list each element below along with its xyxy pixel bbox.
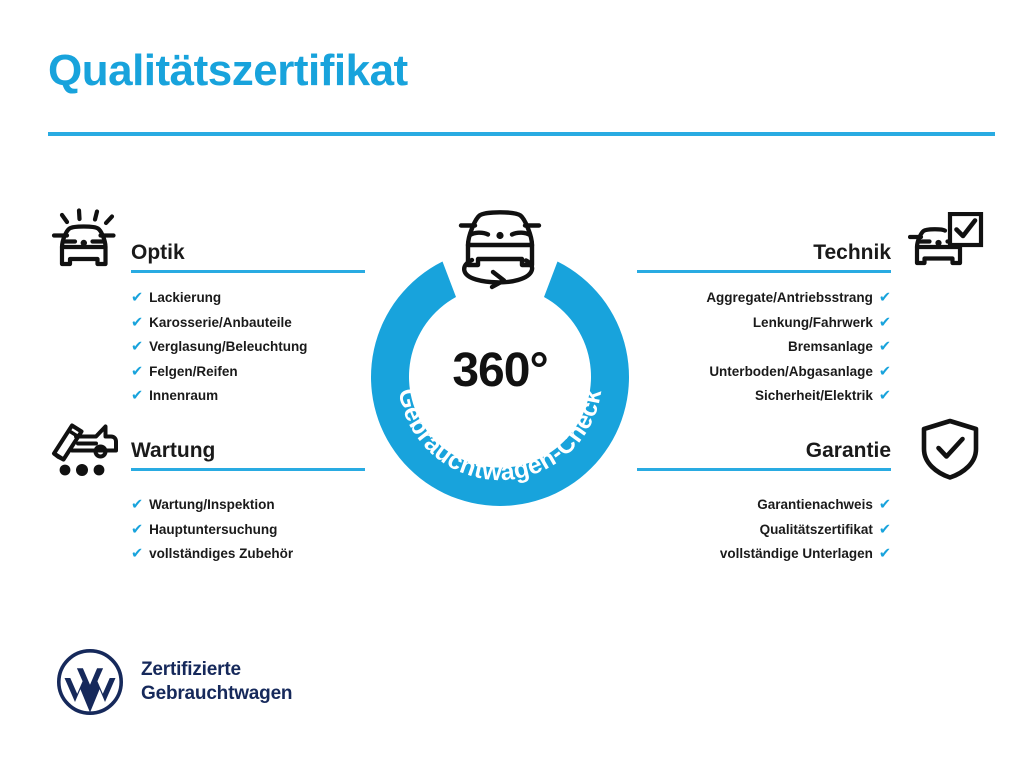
section-garantie-list: Garantienachweis ✔ Qualitätszertifikat ✔… (637, 493, 891, 567)
list-item-label: Lenkung/Fahrwerk (753, 311, 873, 335)
section-garantie: Garantie Garantienachweis ✔ Qualitätszer… (637, 437, 891, 567)
badge-360-check: Gebrauchtwagen-Check 360° (371, 249, 629, 507)
certificate-page: Qualitätszertifikat Optik ✔ (0, 0, 1024, 768)
list-item: ✔ Lackierung (131, 286, 365, 311)
check-icon: ✔ (131, 336, 143, 360)
section-wartung: Wartung ✔ Wartung/Inspektion ✔ Hauptunte… (131, 437, 365, 567)
section-technik-divider (637, 270, 891, 273)
car-rotate-icon (444, 202, 556, 292)
list-item: ✔ Karosserie/Anbauteile (131, 311, 365, 336)
section-optik-divider (131, 270, 365, 273)
car-checkbox-icon (908, 212, 984, 274)
check-icon: ✔ (131, 312, 143, 336)
shield-check-icon (920, 418, 980, 480)
check-icon: ✔ (879, 385, 891, 409)
page-title: Qualitätszertifikat (48, 48, 408, 94)
check-icon: ✔ (131, 287, 143, 311)
badge-degree-label: 360° (371, 345, 629, 397)
section-technik: Technik Aggregate/Antriebsstrang ✔ Lenku… (637, 239, 891, 409)
check-icon: ✔ (131, 543, 143, 567)
list-item-label: Qualitätszertifikat (760, 518, 873, 542)
vw-lockup-text: Zertifizierte Gebrauchtwagen (141, 658, 292, 706)
section-optik-header: Optik (131, 239, 365, 273)
check-icon: ✔ (879, 361, 891, 385)
list-item: ✔ Innenraum (131, 384, 365, 409)
list-item-label: Wartung/Inspektion (149, 493, 275, 517)
list-item: Bremsanlage ✔ (637, 335, 891, 360)
check-icon: ✔ (879, 494, 891, 518)
list-item: Sicherheit/Elektrik ✔ (637, 384, 891, 409)
check-icon: ✔ (131, 361, 143, 385)
list-item-label: Garantienachweis (757, 493, 873, 517)
list-item: Aggregate/Antriebsstrang ✔ (637, 286, 891, 311)
check-icon: ✔ (131, 494, 143, 518)
volkswagen-logo-icon (56, 648, 124, 716)
list-item-label: Felgen/Reifen (149, 360, 238, 384)
list-item-label: Sicherheit/Elektrik (755, 384, 873, 408)
section-technik-list: Aggregate/Antriebsstrang ✔ Lenkung/Fahrw… (637, 286, 891, 409)
vw-lockup-line2: Gebrauchtwagen (141, 682, 292, 706)
list-item: ✔ Verglasung/Beleuchtung (131, 335, 365, 360)
list-item-label: Unterboden/Abgasanlage (709, 360, 873, 384)
check-icon: ✔ (879, 287, 891, 311)
vw-certified-lockup: Zertifizierte Gebrauchtwagen (56, 648, 292, 716)
check-icon: ✔ (879, 543, 891, 567)
service-pencil-car-icon (48, 416, 120, 478)
section-garantie-header: Garantie (637, 437, 891, 471)
section-optik: Optik ✔ Lackierung ✔ Karosserie/Anbautei… (131, 239, 365, 409)
section-wartung-header: Wartung (131, 437, 365, 471)
list-item: Unterboden/Abgasanlage ✔ (637, 360, 891, 385)
check-icon: ✔ (879, 336, 891, 360)
list-item-label: Innenraum (149, 384, 218, 408)
list-item-label: Bremsanlage (788, 335, 873, 359)
list-item-label: Aggregate/Antriebsstrang (706, 286, 873, 310)
section-optik-title: Optik (131, 239, 365, 267)
check-icon: ✔ (131, 385, 143, 409)
list-item: ✔ vollständiges Zubehör (131, 542, 365, 567)
list-item: ✔ Wartung/Inspektion (131, 493, 365, 518)
section-wartung-divider (131, 468, 365, 471)
list-item: Lenkung/Fahrwerk ✔ (637, 311, 891, 336)
list-item: Qualitätszertifikat ✔ (637, 518, 891, 543)
list-item-label: Hauptuntersuchung (149, 518, 277, 542)
list-item-label: Lackierung (149, 286, 221, 310)
section-technik-title: Technik (637, 239, 891, 267)
section-technik-header: Technik (637, 239, 891, 273)
list-item: ✔ Felgen/Reifen (131, 360, 365, 385)
list-item-label: Karosserie/Anbauteile (149, 311, 292, 335)
title-divider (48, 132, 995, 136)
section-garantie-divider (637, 468, 891, 471)
section-optik-list: ✔ Lackierung ✔ Karosserie/Anbauteile ✔ V… (131, 286, 365, 409)
section-wartung-list: ✔ Wartung/Inspektion ✔ Hauptuntersuchung… (131, 493, 365, 567)
check-icon: ✔ (879, 519, 891, 543)
check-icon: ✔ (879, 312, 891, 336)
list-item: vollständige Unterlagen ✔ (637, 542, 891, 567)
list-item: Garantienachweis ✔ (637, 493, 891, 518)
vw-lockup-line1: Zertifizierte (141, 658, 292, 682)
section-wartung-title: Wartung (131, 437, 365, 465)
car-shine-icon (48, 208, 120, 274)
list-item-label: vollständige Unterlagen (720, 542, 873, 566)
list-item-label: vollständiges Zubehör (149, 542, 293, 566)
list-item: ✔ Hauptuntersuchung (131, 518, 365, 543)
list-item-label: Verglasung/Beleuchtung (149, 335, 307, 359)
section-garantie-title: Garantie (637, 437, 891, 465)
check-icon: ✔ (131, 519, 143, 543)
